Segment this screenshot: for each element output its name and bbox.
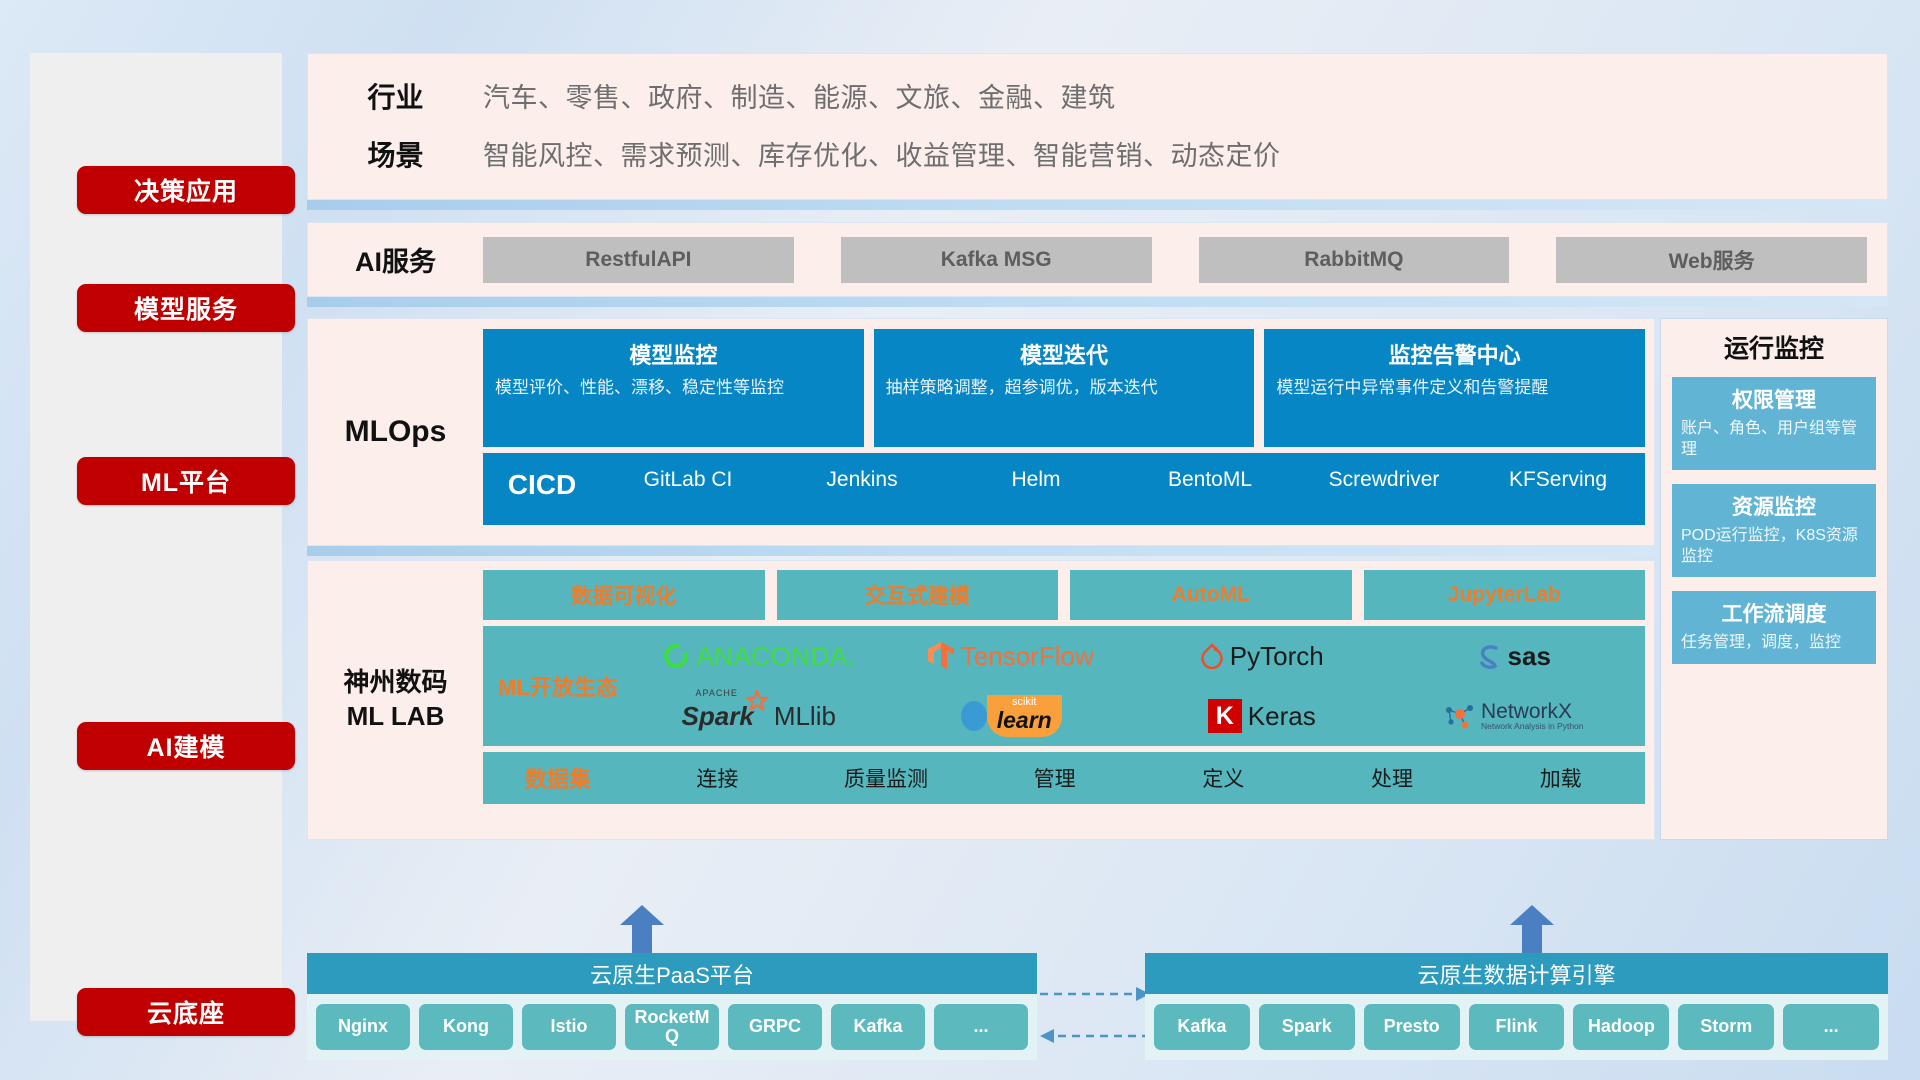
ai-service-band: AI服务 RestfulAPI Kafka MSG RabbitMQ Web服务 bbox=[307, 222, 1888, 297]
card-title: 工作流调度 bbox=[1681, 598, 1867, 628]
card-desc: 模型运行中异常事件定义和告警提醒 bbox=[1276, 377, 1633, 400]
dataset-item-quality-monitoring[interactable]: 质量监测 bbox=[802, 763, 971, 793]
dataset-item-process[interactable]: 处理 bbox=[1308, 763, 1477, 793]
spark-mllib-logo: APACHE Spark MLlib bbox=[682, 701, 836, 732]
dataset-bar: 数据集 连接 质量监测 管理 定义 处理 加载 bbox=[483, 752, 1645, 804]
mlops-card-model-iteration[interactable]: 模型迭代 抽样策略调整，超参调优，版本迭代 bbox=[874, 329, 1255, 447]
anaconda-wordmark: ANACONDA. bbox=[696, 641, 855, 672]
sidebar-item-ai-modeling[interactable]: AI建模 bbox=[77, 722, 295, 770]
spark-star-icon bbox=[746, 690, 768, 712]
monitor-card-resource-monitoring[interactable]: 资源监控 POD运行监控，K8S资源监控 bbox=[1672, 484, 1876, 577]
ml-lab-band: 神州数码 ML LAB 数据可视化 交互式建模 AutoML JupyterLa… bbox=[307, 560, 1655, 840]
paas-chip-rocketmq[interactable]: RocketMQ bbox=[625, 1004, 719, 1050]
ai-service-item-restfulapi[interactable]: RestfulAPI bbox=[483, 237, 794, 283]
ml-ecosystem-label: ML开放生态 bbox=[483, 670, 633, 702]
networkx-logo: NetworkX Network Analysis in Python bbox=[1443, 701, 1584, 731]
band-separator bbox=[307, 297, 1888, 307]
keras-wordmark: Keras bbox=[1248, 701, 1316, 732]
sidebar-item-ml-platform[interactable]: ML平台 bbox=[77, 457, 295, 505]
ai-service-item-web-service[interactable]: Web服务 bbox=[1556, 237, 1867, 283]
cicd-item-helm[interactable]: Helm bbox=[949, 469, 1123, 491]
scenario-label: 场景 bbox=[308, 127, 483, 185]
dataset-item-manage[interactable]: 管理 bbox=[970, 763, 1139, 793]
ml-ecosystem-row: ML开放生态 ANACONDA. bbox=[483, 626, 1645, 746]
cloud-native-data-engine-block: 云原生数据计算引擎 Kafka Spark Presto Flink Hadoo… bbox=[1145, 953, 1888, 1060]
ai-service-item-rabbitmq[interactable]: RabbitMQ bbox=[1199, 237, 1510, 283]
card-title: 模型迭代 bbox=[886, 338, 1243, 370]
diagram-canvas: 决策应用 模型服务 ML平台 AI建模 云底座 行业 汽车、零售、政府、制造、能… bbox=[0, 0, 1920, 1080]
cicd-item-bentoml[interactable]: BentoML bbox=[1123, 469, 1297, 491]
ml-lab-label: 神州数码 ML LAB bbox=[308, 561, 483, 839]
sidebar-item-cloud-foundation[interactable]: 云底座 bbox=[77, 988, 295, 1036]
scikit-learn-logo: scikit learn bbox=[959, 695, 1062, 736]
spark-wordmark: Spark bbox=[682, 701, 754, 731]
cicd-item-screwdriver[interactable]: Screwdriver bbox=[1297, 469, 1471, 491]
industry-scenario-band: 行业 汽车、零售、政府、制造、能源、文旅、金融、建筑 场景 智能风控、需求预测、… bbox=[307, 53, 1888, 200]
ml-lab-label-line2: ML LAB bbox=[343, 700, 447, 734]
data-chip-spark[interactable]: Spark bbox=[1259, 1004, 1355, 1050]
ml-lab-label-line1: 神州数码 bbox=[343, 666, 447, 700]
data-engine-title: 云原生数据计算引擎 bbox=[1145, 953, 1888, 994]
arrow-up-paas-icon bbox=[620, 905, 664, 953]
data-chip-presto[interactable]: Presto bbox=[1364, 1004, 1460, 1050]
monitor-card-workflow-scheduling[interactable]: 工作流调度 任务管理，调度，监控 bbox=[1672, 591, 1876, 663]
lab-tab-automl[interactable]: AutoML bbox=[1070, 570, 1352, 620]
runtime-monitor-panel: 运行监控 权限管理 账户、角色、用户组等管理 资源监控 POD运行监控，K8S资… bbox=[1660, 318, 1888, 840]
learn-wordmark: learn bbox=[997, 708, 1052, 732]
apache-wordmark: APACHE bbox=[696, 688, 738, 698]
mlops-card-model-monitoring[interactable]: 模型监控 模型评价、性能、漂移、稳定性等监控 bbox=[483, 329, 864, 447]
networkx-tagline: Network Analysis in Python bbox=[1481, 722, 1584, 731]
sidebar-item-model-service[interactable]: 模型服务 bbox=[77, 284, 295, 332]
card-desc: 任务管理，调度，监控 bbox=[1681, 632, 1867, 653]
mlops-label: MLOps bbox=[308, 319, 483, 545]
anaconda-logo: ANACONDA. bbox=[662, 641, 855, 672]
tensorflow-logo: TensorFlow bbox=[927, 641, 1094, 672]
sas-mark-icon bbox=[1476, 642, 1502, 670]
card-desc: 账户、角色、用户组等管理 bbox=[1681, 418, 1867, 460]
sidebar-item-decision-application[interactable]: 决策应用 bbox=[77, 166, 295, 214]
lab-tab-data-visualization[interactable]: 数据可视化 bbox=[483, 570, 765, 620]
card-title: 模型监控 bbox=[495, 338, 852, 370]
tensorflow-wordmark: TensorFlow bbox=[961, 641, 1094, 672]
layer-rail: 决策应用 模型服务 ML平台 AI建模 云底座 bbox=[30, 53, 282, 1021]
mlops-band: MLOps 模型监控 模型评价、性能、漂移、稳定性等监控 模型迭代 抽样策略调整… bbox=[307, 318, 1655, 546]
anaconda-mark-icon bbox=[662, 642, 690, 670]
ai-service-label: AI服务 bbox=[308, 240, 483, 279]
tensorflow-mark-icon bbox=[927, 641, 955, 671]
card-title: 资源监控 bbox=[1681, 491, 1867, 521]
monitor-card-permission-management[interactable]: 权限管理 账户、角色、用户组等管理 bbox=[1672, 377, 1876, 470]
paas-chip-nginx[interactable]: Nginx bbox=[316, 1004, 410, 1050]
card-title: 监控告警中心 bbox=[1276, 338, 1633, 370]
card-desc: POD运行监控，K8S资源监控 bbox=[1681, 525, 1867, 567]
cicd-bar: CICD GitLab CI Jenkins Helm BentoML Scre… bbox=[483, 453, 1645, 525]
data-chip-more[interactable]: ... bbox=[1783, 1004, 1879, 1050]
cicd-item-jenkins[interactable]: Jenkins bbox=[775, 469, 949, 491]
paas-chip-istio[interactable]: Istio bbox=[522, 1004, 616, 1050]
paas-title: 云原生PaaS平台 bbox=[307, 953, 1037, 994]
dataset-label: 数据集 bbox=[483, 762, 633, 794]
panel-title: 运行监控 bbox=[1672, 329, 1876, 365]
bidirectional-dashed-connector-icon bbox=[1040, 970, 1150, 1060]
pytorch-wordmark: PyTorch bbox=[1230, 641, 1324, 672]
paas-chip-more[interactable]: ... bbox=[934, 1004, 1028, 1050]
arrow-up-data-engine-icon bbox=[1510, 905, 1554, 953]
keras-logo: K Keras bbox=[1208, 699, 1316, 733]
lab-tab-interactive-modeling[interactable]: 交互式建模 bbox=[777, 570, 1059, 620]
lab-tab-jupyterlab[interactable]: JupyterLab bbox=[1364, 570, 1646, 620]
mllib-wordmark: MLlib bbox=[774, 701, 836, 732]
scenario-value: 智能风控、需求预测、库存优化、收益管理、智能营销、动态定价 bbox=[483, 127, 1887, 185]
card-desc: 模型评价、性能、漂移、稳定性等监控 bbox=[495, 377, 852, 400]
dataset-item-connect[interactable]: 连接 bbox=[633, 763, 802, 793]
sas-logo: sas bbox=[1476, 641, 1551, 672]
cloud-native-paas-block: 云原生PaaS平台 Nginx Kong Istio RocketMQ GRPC… bbox=[307, 953, 1037, 1060]
data-chip-kafka[interactable]: Kafka bbox=[1154, 1004, 1250, 1050]
paas-chip-kong[interactable]: Kong bbox=[419, 1004, 513, 1050]
paas-chip-kafka[interactable]: Kafka bbox=[831, 1004, 925, 1050]
cicd-item-gitlab-ci[interactable]: GitLab CI bbox=[601, 469, 775, 491]
card-desc: 抽样策略调整，超参调优，版本迭代 bbox=[886, 377, 1243, 400]
ai-service-item-kafka-msg[interactable]: Kafka MSG bbox=[841, 237, 1152, 283]
industry-value: 汽车、零售、政府、制造、能源、文旅、金融、建筑 bbox=[483, 69, 1887, 127]
cicd-label: CICD bbox=[483, 469, 601, 501]
networkx-graph-icon bbox=[1443, 701, 1475, 731]
keras-mark-icon: K bbox=[1208, 699, 1242, 733]
industry-label: 行业 bbox=[308, 69, 483, 127]
mlops-card-alert-center[interactable]: 监控告警中心 模型运行中异常事件定义和告警提醒 bbox=[1264, 329, 1645, 447]
data-chip-hadoop[interactable]: Hadoop bbox=[1573, 1004, 1669, 1050]
card-title: 权限管理 bbox=[1681, 384, 1867, 414]
data-chip-flink[interactable]: Flink bbox=[1469, 1004, 1565, 1050]
data-chip-storm[interactable]: Storm bbox=[1678, 1004, 1774, 1050]
dataset-item-load[interactable]: 加载 bbox=[1476, 763, 1645, 793]
sas-wordmark: sas bbox=[1508, 641, 1551, 672]
band-separator bbox=[307, 200, 1888, 210]
networkx-wordmark: NetworkX bbox=[1481, 701, 1584, 722]
cicd-item-kfserving[interactable]: KFServing bbox=[1471, 469, 1645, 491]
scikit-blob-icon bbox=[959, 699, 989, 733]
band-separator bbox=[307, 546, 1655, 556]
dataset-item-define[interactable]: 定义 bbox=[1139, 763, 1308, 793]
pytorch-logo: PyTorch bbox=[1200, 641, 1324, 672]
pytorch-mark-icon bbox=[1200, 642, 1224, 670]
paas-chip-grpc[interactable]: GRPC bbox=[728, 1004, 822, 1050]
